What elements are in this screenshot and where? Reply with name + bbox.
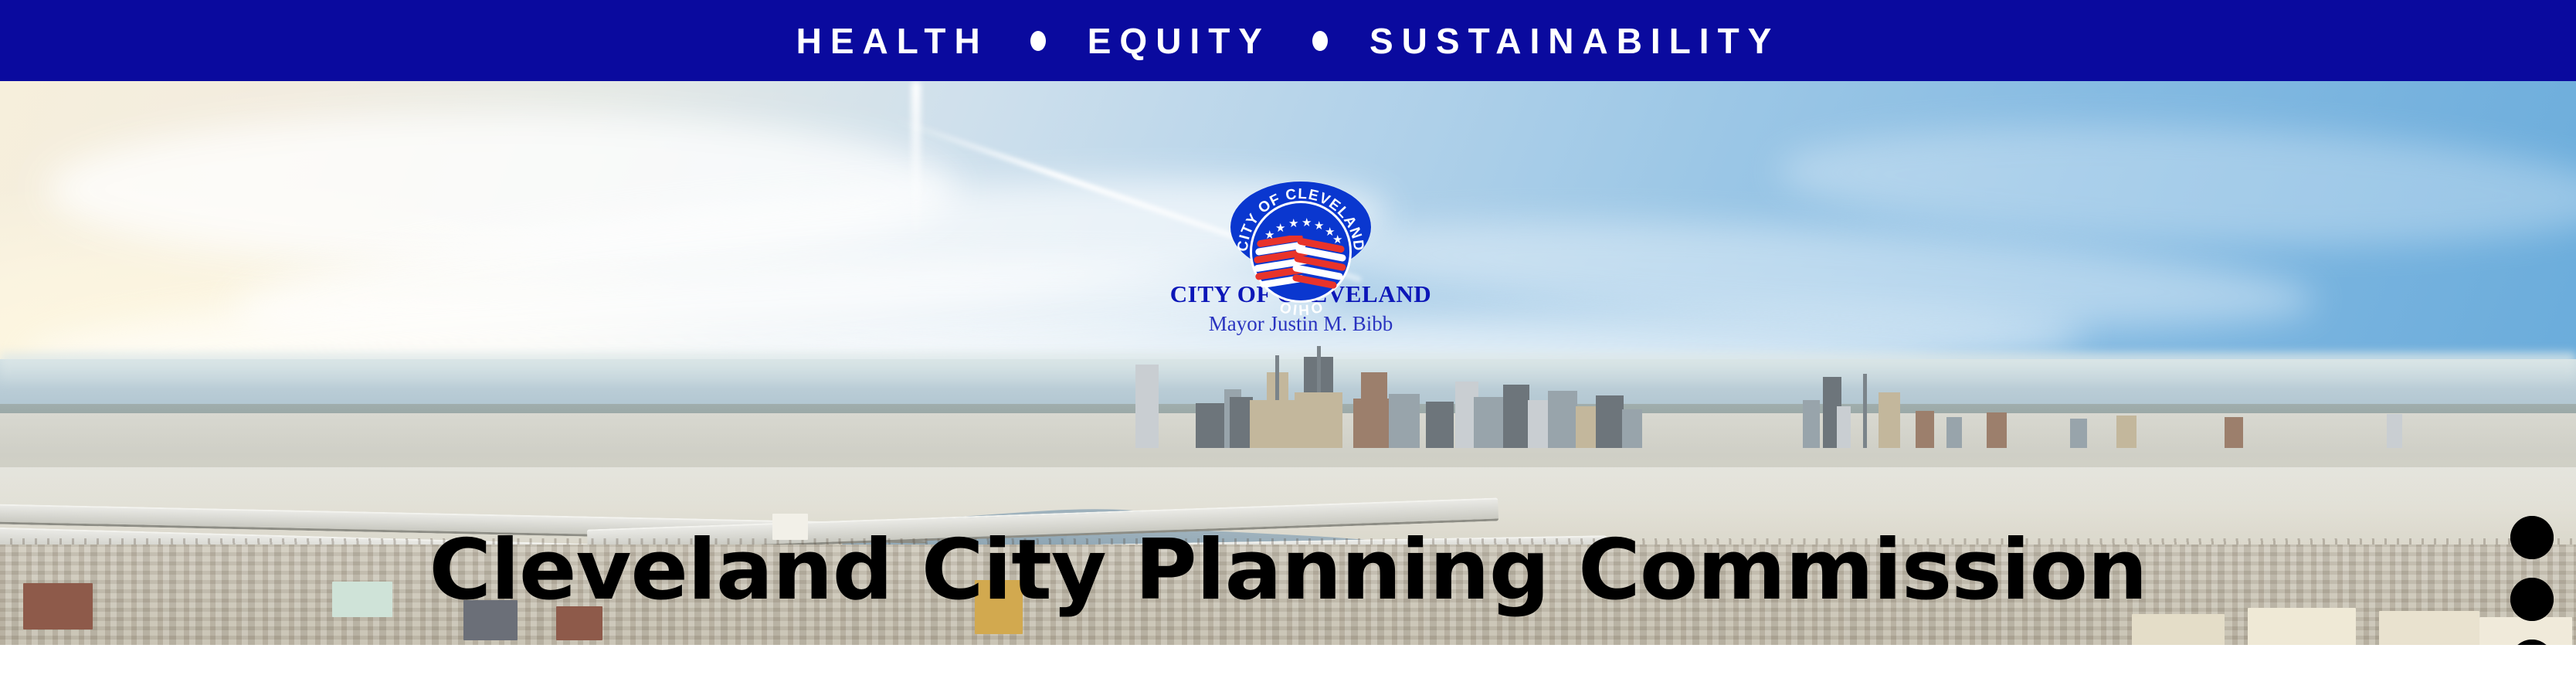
youtube-icon[interactable] (2510, 516, 2554, 559)
instagram-icon[interactable] (2510, 578, 2554, 621)
city-branding-block: CITY OF CLEVELAND OHIO ★ ★ ★ ★ ★ ★ (1146, 182, 1455, 336)
tagline-word-equity: EQUITY (1088, 23, 1271, 59)
house (2248, 608, 2356, 645)
tagline-banner: HEALTH EQUITY SUSTAINABILITY (0, 0, 2576, 81)
tagline-word-sustainability: SUSTAINABILITY (1369, 23, 1780, 59)
page-root: HEALTH EQUITY SUSTAINABILITY (0, 0, 2576, 682)
page-title: Cleveland City Planning Commission (0, 529, 2576, 612)
bullet-dot-icon-1 (1030, 31, 1046, 51)
bullet-dot-icon-2 (1312, 31, 1328, 51)
social-media-rail (2510, 516, 2554, 645)
house (2132, 614, 2225, 645)
hero-banner: CITY OF CLEVELAND OHIO ★ ★ ★ ★ ★ ★ (0, 81, 2576, 645)
contrail (911, 81, 921, 236)
facebook-icon[interactable] (2510, 640, 2554, 645)
downtown-skyline (0, 355, 2576, 448)
city-of-cleveland-seal-icon: CITY OF CLEVELAND OHIO ★ ★ ★ ★ ★ ★ (1230, 182, 1371, 273)
seal-flag (1254, 236, 1348, 291)
tagline-word-health: HEALTH (796, 23, 989, 59)
house (2379, 611, 2479, 645)
